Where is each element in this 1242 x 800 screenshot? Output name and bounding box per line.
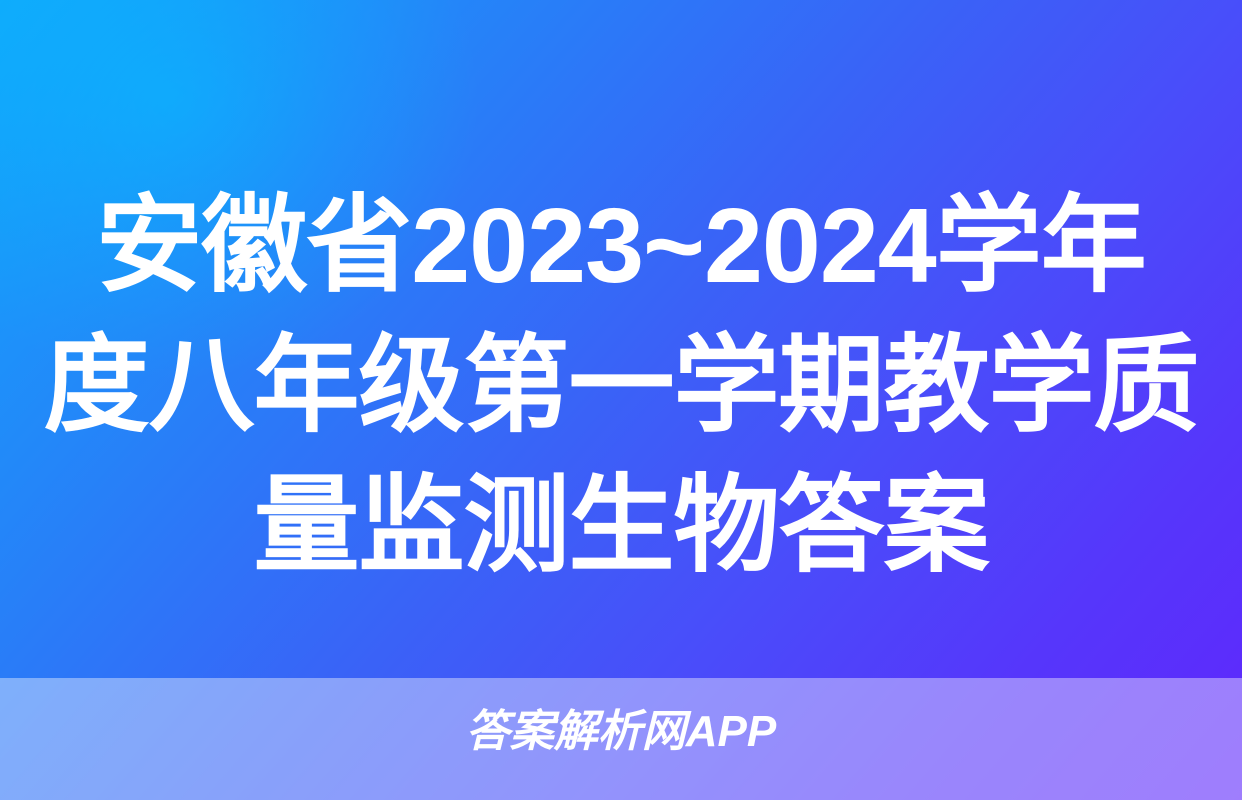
banner-canvas: 安徽省2023~2024学年 度八年级第一学期教学质 量监测生物答案 答案解析网… — [0, 0, 1242, 800]
title-line-2: 度八年级第一学期教学质 — [0, 316, 1242, 456]
page-title: 安徽省2023~2024学年 度八年级第一学期教学质 量监测生物答案 — [0, 176, 1242, 596]
watermark-label: 答案解析网APP — [0, 702, 1242, 762]
title-line-3: 量监测生物答案 — [0, 456, 1242, 596]
title-line-1: 安徽省2023~2024学年 — [0, 176, 1242, 316]
